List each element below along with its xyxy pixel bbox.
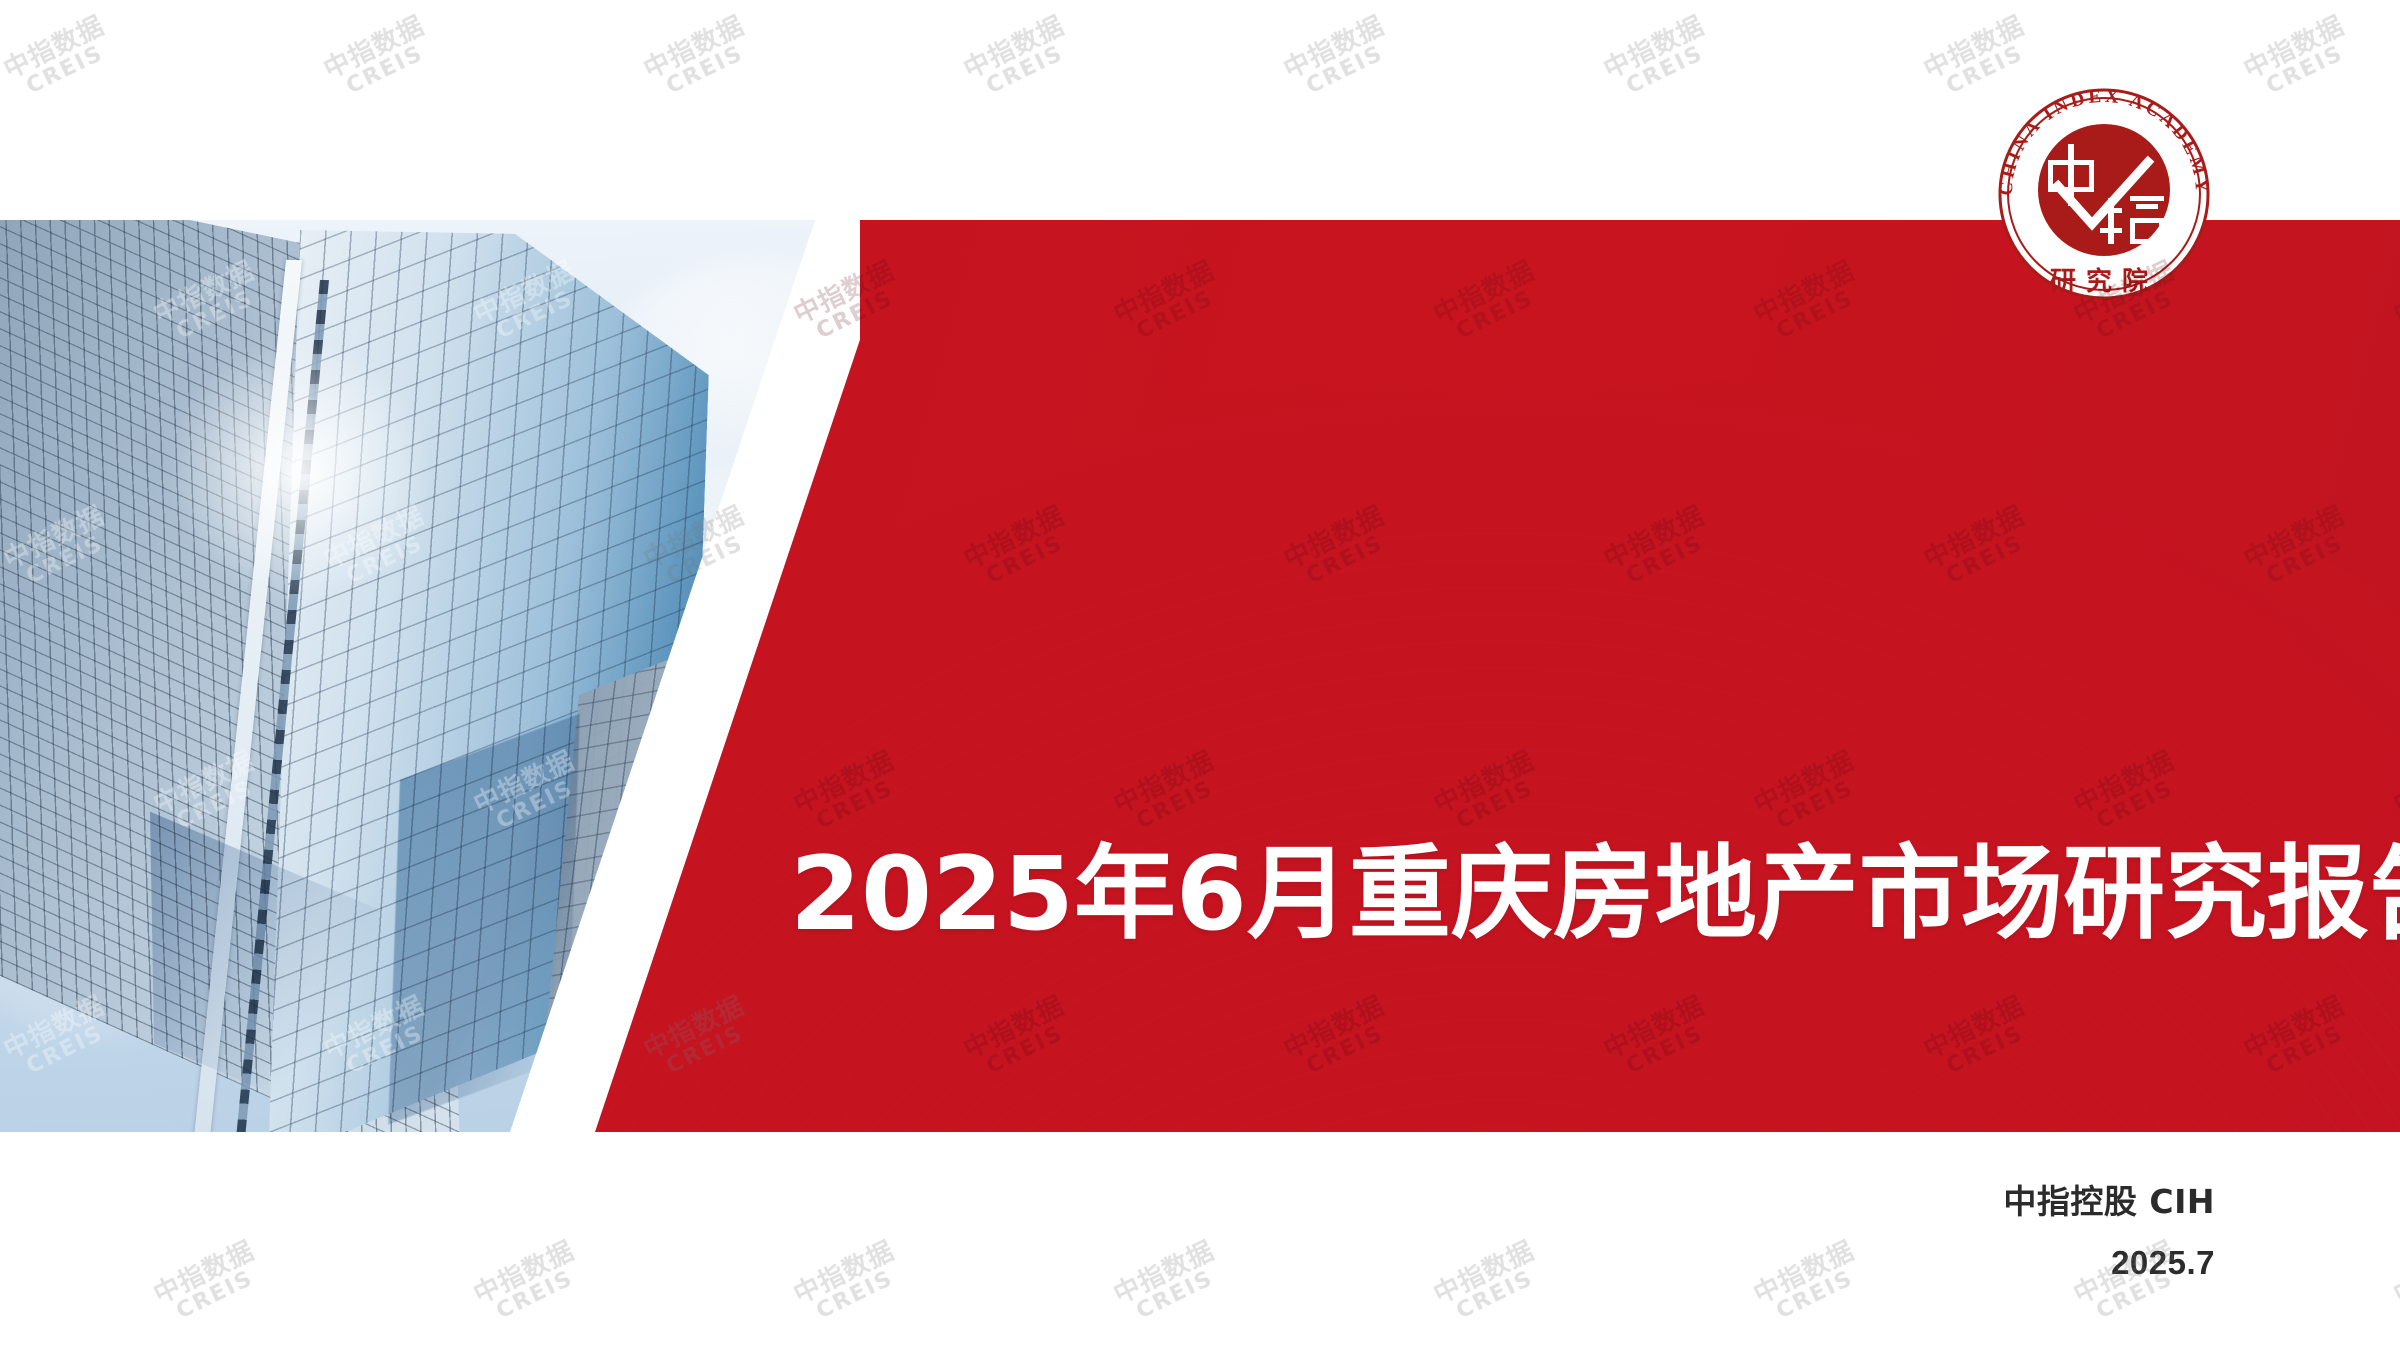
watermark-en: CREIS: [1442, 1262, 1549, 1330]
watermark: 中指数据CREIS: [790, 1238, 909, 1330]
glass-reflection: [388, 714, 580, 1125]
watermark: 中指数据CREIS: [960, 13, 1079, 105]
watermark: 中指数据CREIS: [1110, 1238, 1229, 1330]
china-index-academy-logo: CHINA INDEX ACADEMY 研究院: [1988, 78, 2220, 310]
watermark-en: CREIS: [1762, 1262, 1869, 1330]
watermark-en: CREIS: [12, 37, 119, 105]
watermark-en: CREIS: [482, 1262, 589, 1330]
watermark: 中指数据CREIS: [1430, 1238, 1549, 1330]
watermark-en: CREIS: [2252, 37, 2359, 105]
watermark-zh: 中指数据: [1280, 13, 1389, 85]
watermark-zh: 中指数据: [1110, 1238, 1219, 1310]
watermark: 中指数据CREIS: [2240, 13, 2359, 105]
watermark: 中指数据CREIS: [320, 13, 439, 105]
report-cover-slide: 2025年6月重庆房地产市场研究报告: [0, 0, 2400, 1350]
watermark: 中指数据CREIS: [150, 1238, 269, 1330]
page-title: 2025年6月重庆房地产市场研究报告: [790, 838, 2370, 952]
watermark-zh: 中指数据: [2390, 1238, 2400, 1310]
watermark: 中指数据CREIS: [1600, 13, 1719, 105]
watermark-en: CREIS: [1292, 37, 1399, 105]
watermark-zh: 中指数据: [1920, 13, 2029, 85]
watermark: 中指数据CREIS: [1280, 13, 1399, 105]
footer-organization: 中指控股 CIH: [2003, 1185, 2215, 1218]
watermark-zh: 中指数据: [150, 1238, 259, 1310]
watermark-en: CREIS: [1612, 37, 1719, 105]
watermark-zh: 中指数据: [470, 1238, 579, 1310]
watermark-zh: 中指数据: [320, 13, 429, 85]
logo-bottom-text: 研究院: [2050, 266, 2158, 297]
watermark-en: CREIS: [1122, 1262, 1229, 1330]
watermark-en: CREIS: [652, 37, 759, 105]
watermark: 中指数据CREIS: [0, 13, 119, 105]
watermark: 中指数据CREIS: [640, 13, 759, 105]
watermark-en: CREIS: [332, 37, 439, 105]
watermark-en: CREIS: [972, 37, 1079, 105]
watermark: 中指数据CREIS: [470, 1238, 589, 1330]
watermark: 中指数据CREIS: [2390, 1238, 2400, 1330]
watermark-zh: 中指数据: [960, 13, 1069, 85]
sun-flare: [170, 340, 430, 600]
watermark-zh: 中指数据: [1600, 13, 1709, 85]
watermark-en: CREIS: [802, 1262, 909, 1330]
watermark-en: CREIS: [162, 1262, 269, 1330]
footer: 中指控股 CIH 2025.7: [2003, 1185, 2215, 1279]
hero-band: 2025年6月重庆房地产市场研究报告: [0, 220, 2400, 1132]
footer-date: 2025.7: [2003, 1246, 2215, 1279]
watermark-zh: 中指数据: [0, 13, 109, 85]
watermark: 中指数据CREIS: [1750, 1238, 1869, 1330]
watermark-zh: 中指数据: [1430, 1238, 1539, 1310]
watermark-zh: 中指数据: [1750, 1238, 1859, 1310]
watermark-zh: 中指数据: [2240, 13, 2349, 85]
watermark-zh: 中指数据: [790, 1238, 899, 1310]
watermark-zh: 中指数据: [640, 13, 749, 85]
